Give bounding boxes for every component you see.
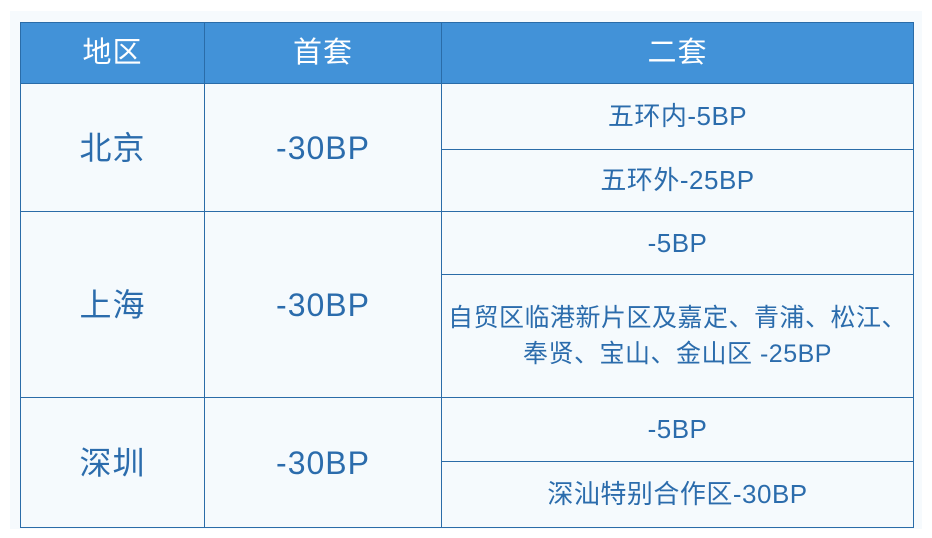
cell-region-shenzhen: 深圳 [21,398,205,528]
mortgage-rate-table: 地区 首套 二套 北京 -30BP 五环内-5BP 五环外-25BP 上海 -3… [20,22,914,528]
page-canvas: 地区 首套 二套 北京 -30BP 五环内-5BP 五环外-25BP 上海 -3… [0,0,932,538]
cell-region-shanghai: 上海 [21,212,205,398]
header-row: 地区 首套 二套 [21,23,914,84]
cell-second-home-beijing-1: 五环内-5BP [442,84,914,150]
cell-second-home-shenzhen-1: -5BP [442,398,914,462]
cell-first-home-beijing: -30BP [205,84,442,212]
cell-region-beijing: 北京 [21,84,205,212]
table-header: 地区 首套 二套 [21,23,914,84]
column-header-region: 地区 [21,23,205,84]
table-row: 深圳 -30BP -5BP [21,398,914,462]
table-row: 北京 -30BP 五环内-5BP [21,84,914,150]
cell-second-home-shenzhen-2: 深汕特别合作区-30BP [442,462,914,528]
cell-second-home-beijing-2: 五环外-25BP [442,150,914,212]
cell-second-home-shanghai-1: -5BP [442,212,914,275]
column-header-first-home: 首套 [205,23,442,84]
cell-first-home-shanghai: -30BP [205,212,442,398]
cell-first-home-shenzhen: -30BP [205,398,442,528]
cell-second-home-shanghai-2: 自贸区临港新片区及嘉定、青浦、松江、奉贤、宝山、金山区 -25BP [442,275,914,398]
table-body: 北京 -30BP 五环内-5BP 五环外-25BP 上海 -30BP -5BP … [21,84,914,528]
column-header-second-home: 二套 [442,23,914,84]
table-row: 上海 -30BP -5BP [21,212,914,275]
